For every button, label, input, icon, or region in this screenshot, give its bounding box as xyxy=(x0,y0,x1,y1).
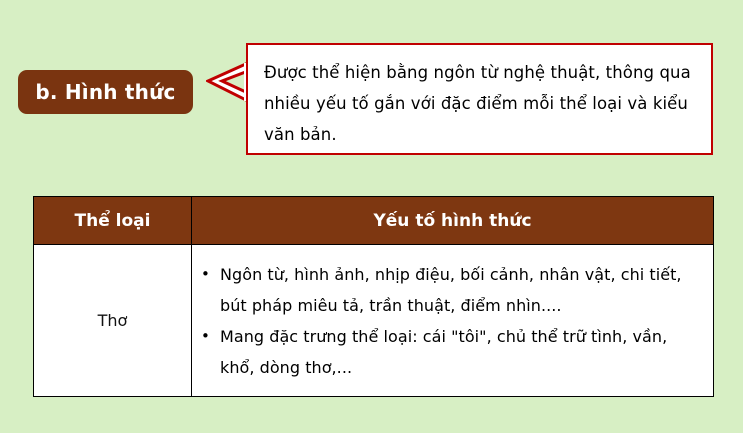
callout-pointer-icon xyxy=(206,61,248,103)
column-header-genre: Thể loại xyxy=(34,197,192,245)
table-row: Thơ Ngôn từ, hình ảnh, nhịp điệu, bối cả… xyxy=(34,245,714,397)
slide-canvas: b. Hình thức Được thể hiện bằng ngôn từ … xyxy=(0,0,743,433)
table-header: Thể loại Yếu tố hình thức xyxy=(34,197,714,245)
callout-box: Được thể hiện bằng ngôn từ nghệ thuật, t… xyxy=(246,43,713,155)
callout-text: Được thể hiện bằng ngôn từ nghệ thuật, t… xyxy=(264,57,699,150)
cell-genre-elements: Ngôn từ, hình ảnh, nhịp điệu, bối cảnh, … xyxy=(192,245,714,397)
section-heading-pill: b. Hình thức xyxy=(18,70,193,114)
cell-genre-name: Thơ xyxy=(34,245,192,397)
genre-elements-table: Thể loại Yếu tố hình thức Thơ Ngôn từ, h… xyxy=(33,196,714,397)
table-header-row: Thể loại Yếu tố hình thức xyxy=(34,197,714,245)
column-header-elements: Yếu tố hình thức xyxy=(192,197,714,245)
list-item: Ngôn từ, hình ảnh, nhịp điệu, bối cảnh, … xyxy=(198,259,699,321)
table-body: Thơ Ngôn từ, hình ảnh, nhịp điệu, bối cả… xyxy=(34,245,714,397)
elements-bullet-list: Ngôn từ, hình ảnh, nhịp điệu, bối cảnh, … xyxy=(198,259,699,383)
section-heading-label: b. Hình thức xyxy=(35,80,175,104)
list-item: Mang đặc trưng thể loại: cái "tôi", chủ … xyxy=(198,321,699,383)
